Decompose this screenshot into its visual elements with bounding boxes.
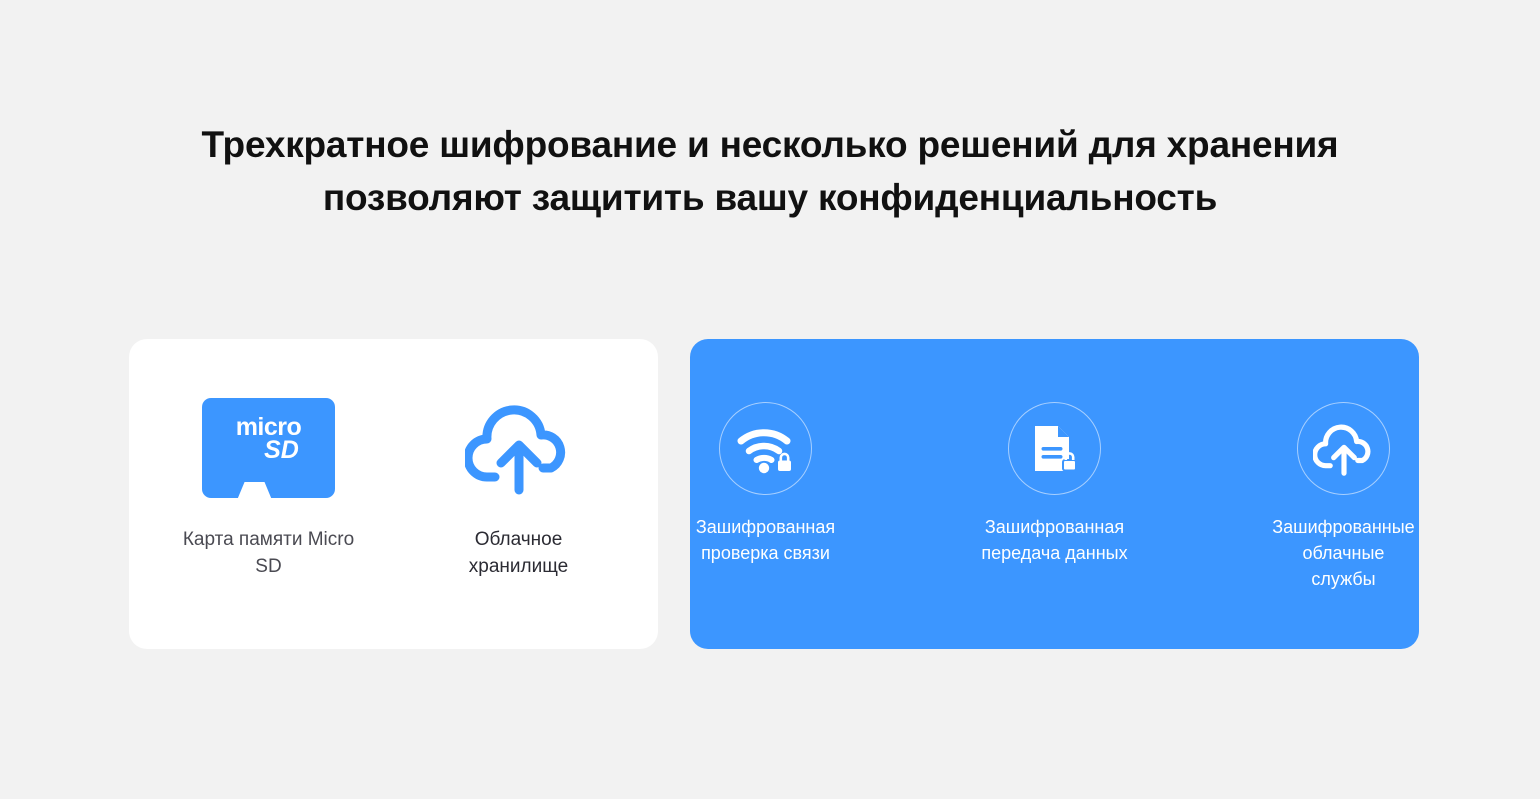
wifi-lock-icon bbox=[719, 402, 812, 495]
encryption-item-cloud: Зашифрованные облачные службы bbox=[1268, 402, 1419, 592]
storage-item-cloud: Облачное хранилище bbox=[433, 392, 605, 580]
storage-item-microsd: micro SD Карта памяти Micro SD bbox=[183, 392, 355, 580]
page-title: Трехкратное шифрование и несколько решен… bbox=[170, 118, 1370, 224]
privacy-feature-section: Трехкратное шифрование и несколько решен… bbox=[0, 0, 1540, 799]
microsd-body-shape bbox=[202, 398, 335, 498]
encryption-item-transfer: Зашифрованная передача данных bbox=[979, 402, 1130, 566]
encryption-item-transfer-label: Зашифрованная передача данных bbox=[979, 514, 1130, 566]
encryption-item-cloud-label: Зашифрованные облачные службы bbox=[1268, 514, 1419, 592]
storage-item-microsd-label: Карта памяти Micro SD bbox=[183, 526, 355, 580]
storage-item-cloud-label: Облачное хранилище bbox=[433, 526, 605, 580]
encryption-item-connection: Зашифрованная проверка связи bbox=[690, 402, 841, 566]
storage-options-card: micro SD Карта памяти Micro SD Облач bbox=[129, 339, 658, 649]
microsd-card-icon: micro SD bbox=[202, 392, 335, 504]
document-lock-icon bbox=[1008, 402, 1101, 495]
cloud-upload-icon bbox=[465, 392, 573, 504]
encryption-features-panel: Зашифрованная проверка связи Зашифрованн… bbox=[690, 339, 1419, 649]
cloud-upload-icon bbox=[1297, 402, 1390, 495]
encryption-item-connection-label: Зашифрованная проверка связи bbox=[690, 514, 841, 566]
